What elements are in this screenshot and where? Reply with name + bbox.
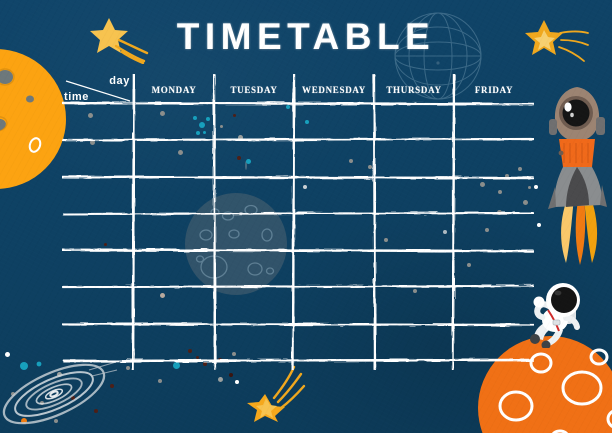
grid-lines — [62, 74, 534, 370]
timetable-poster: TIMETABLE day time Monday Tuesday Wednes… — [0, 0, 612, 433]
page-title: TIMETABLE — [0, 16, 612, 58]
astronaut-icon — [524, 276, 596, 348]
page-title-text: TIMETABLE — [177, 16, 435, 57]
timetable-grid: day time Monday Tuesday Wednesday Thursd… — [62, 74, 534, 370]
planet-icon — [0, 48, 66, 190]
rocket-icon — [546, 83, 608, 268]
